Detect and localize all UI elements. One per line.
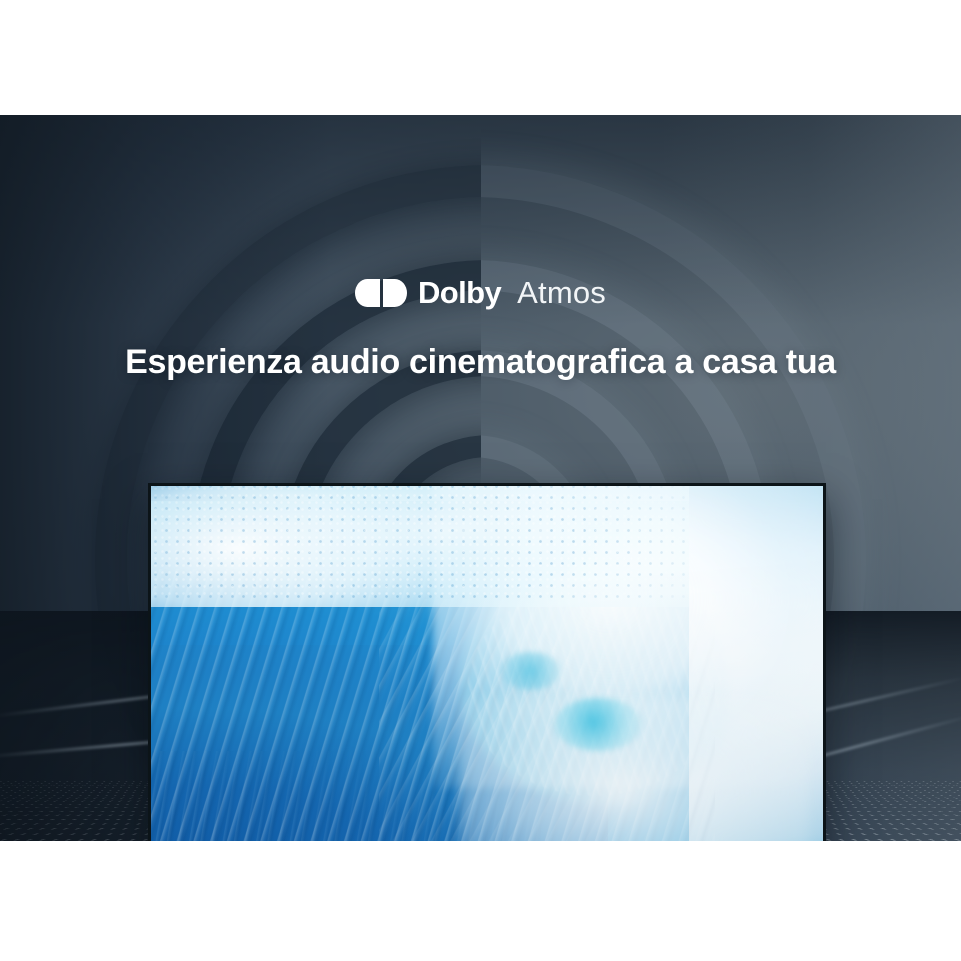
dolby-double-d-icon [355,279,407,307]
dolby-wordmark: Dolby [418,277,501,308]
television-unit [148,483,826,841]
tv-screen [151,486,823,841]
page-title: Esperienza audio cinematografica a casa … [0,343,961,382]
dolby-atmos-logo-lockup: Dolby Atmos [0,277,961,308]
atmos-wordmark: Atmos [517,277,606,308]
double-d-left-glyph [355,279,380,307]
double-d-right-glyph [383,279,408,307]
screen-sheen [151,486,823,841]
hero-band: Dolby Atmos Esperienza audio cinematogra… [0,115,961,841]
dolby-atmos-banner: Dolby Atmos Esperienza audio cinematogra… [0,0,961,961]
